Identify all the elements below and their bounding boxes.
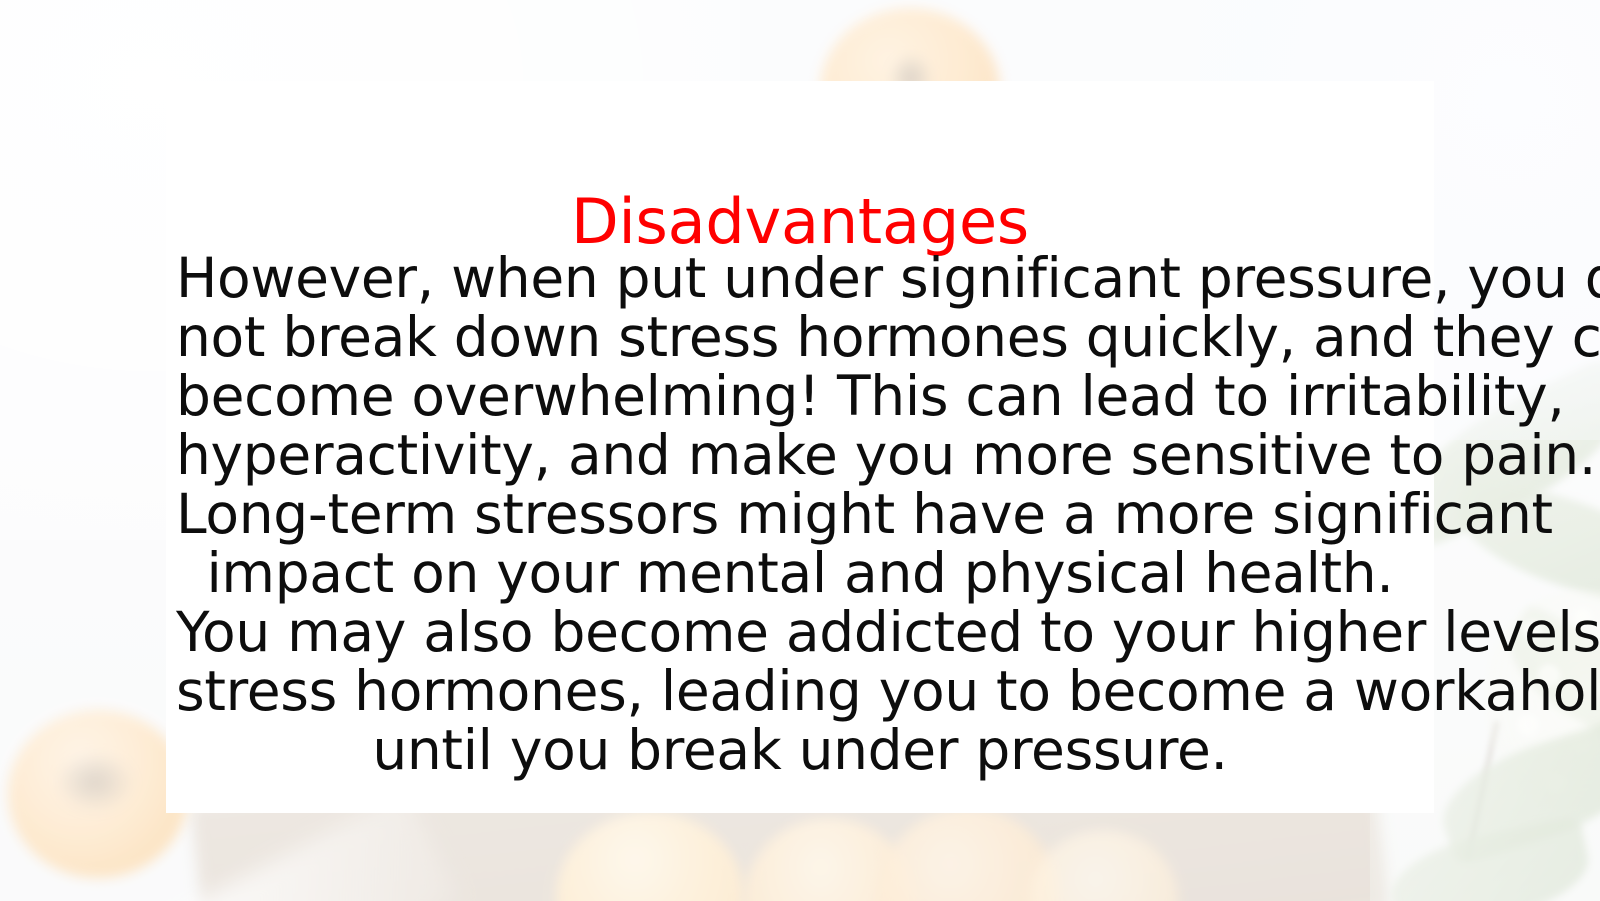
body-line: become overwhelming! This can lead to ir… <box>176 367 1424 426</box>
page-title: Disadvantages <box>166 191 1434 253</box>
body-line: not break down stress hormones quickly, … <box>176 308 1424 367</box>
presentation-slide: Disadvantages However, when put under si… <box>0 0 1600 901</box>
body-line: However, when put under significant pres… <box>176 249 1424 308</box>
body-text-block: However, when put under significant pres… <box>176 249 1424 780</box>
body-line: hyperactivity, and make you more sensiti… <box>176 426 1424 485</box>
apricot-bottom-left-crease <box>56 752 134 812</box>
body-line: You may also become addicted to your hig… <box>176 603 1424 662</box>
body-line: stress hormones, leading you to become a… <box>176 662 1424 721</box>
body-line: Long-term stressors might have a more si… <box>176 485 1424 544</box>
body-line: until you break under pressure. <box>176 721 1424 780</box>
content-card: Disadvantages However, when put under si… <box>166 81 1434 813</box>
body-line: impact on your mental and physical healt… <box>176 544 1424 603</box>
